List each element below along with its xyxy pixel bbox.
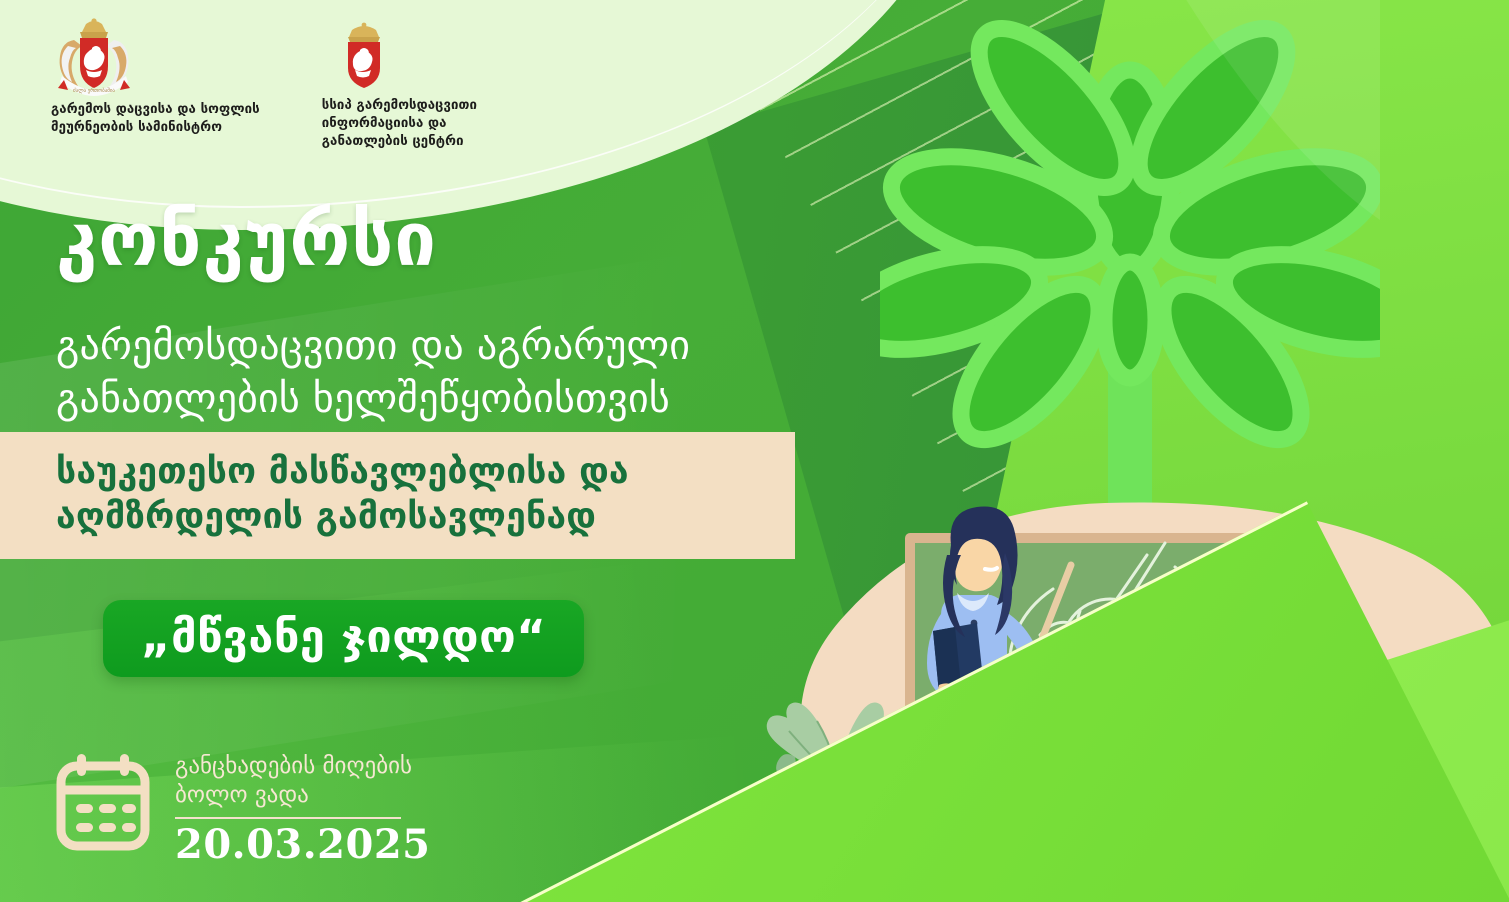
award-name-text: „მწვანე ჯილდო“ [141,614,546,659]
poster-canvas: ძალა ერთობაშია გარემოს დაცვისა და სოფლის… [0,0,1509,902]
svg-text:ძალა ერთობაშია: ძალა ერთობაშია [73,87,115,94]
ministry-logo-block: ძალა ერთობაშია გარემოს დაცვისა და სოფლის… [48,18,260,137]
award-name-pill: „მწვანე ჯილდო“ [103,600,584,677]
highlight-band-text: საუკეთესო მასწავლებლისა და აღმზრდელის გა… [56,449,795,540]
highlight-band: საუკეთესო მასწავლებლისა და აღმზრდელის გა… [0,432,795,559]
deadline-divider [175,817,401,819]
page-title: კონკურსი [56,203,437,277]
calendar-icon [53,752,153,854]
page-subtitle: გარემოსდაცვითი და აგრარული განათლების ხე… [56,320,690,426]
center-logo-block: სსიპ გარემოსდაცვითი ინფორმაციისა და განა… [322,20,477,152]
classroom-illustration [755,495,1509,902]
deadline-block: განცხადების მიღების ბოლო ვადა 20.03.2025 [53,748,431,866]
deadline-label: განცხადების მიღების ბოლო ვადა [175,752,431,810]
deadline-text-block: განცხადების მიღების ბოლო ვადა 20.03.2025 [175,748,431,866]
logo-row: ძალა ერთობაშია გარემოს დაცვისა და სოფლის… [48,18,477,152]
center-logo-label: სსიპ გარემოსდაცვითი ინფორმაციისა და განა… [322,97,477,152]
ministry-logo-label: გარემოს დაცვისა და სოფლის მეურნეობის სამ… [48,101,260,137]
stylized-tree-graphic [880,0,1380,570]
georgia-shield-crest-icon [338,20,390,92]
deadline-date: 20.03.2025 [175,824,431,866]
georgia-coat-of-arms-icon: ძალა ერთობაშია [48,18,140,96]
